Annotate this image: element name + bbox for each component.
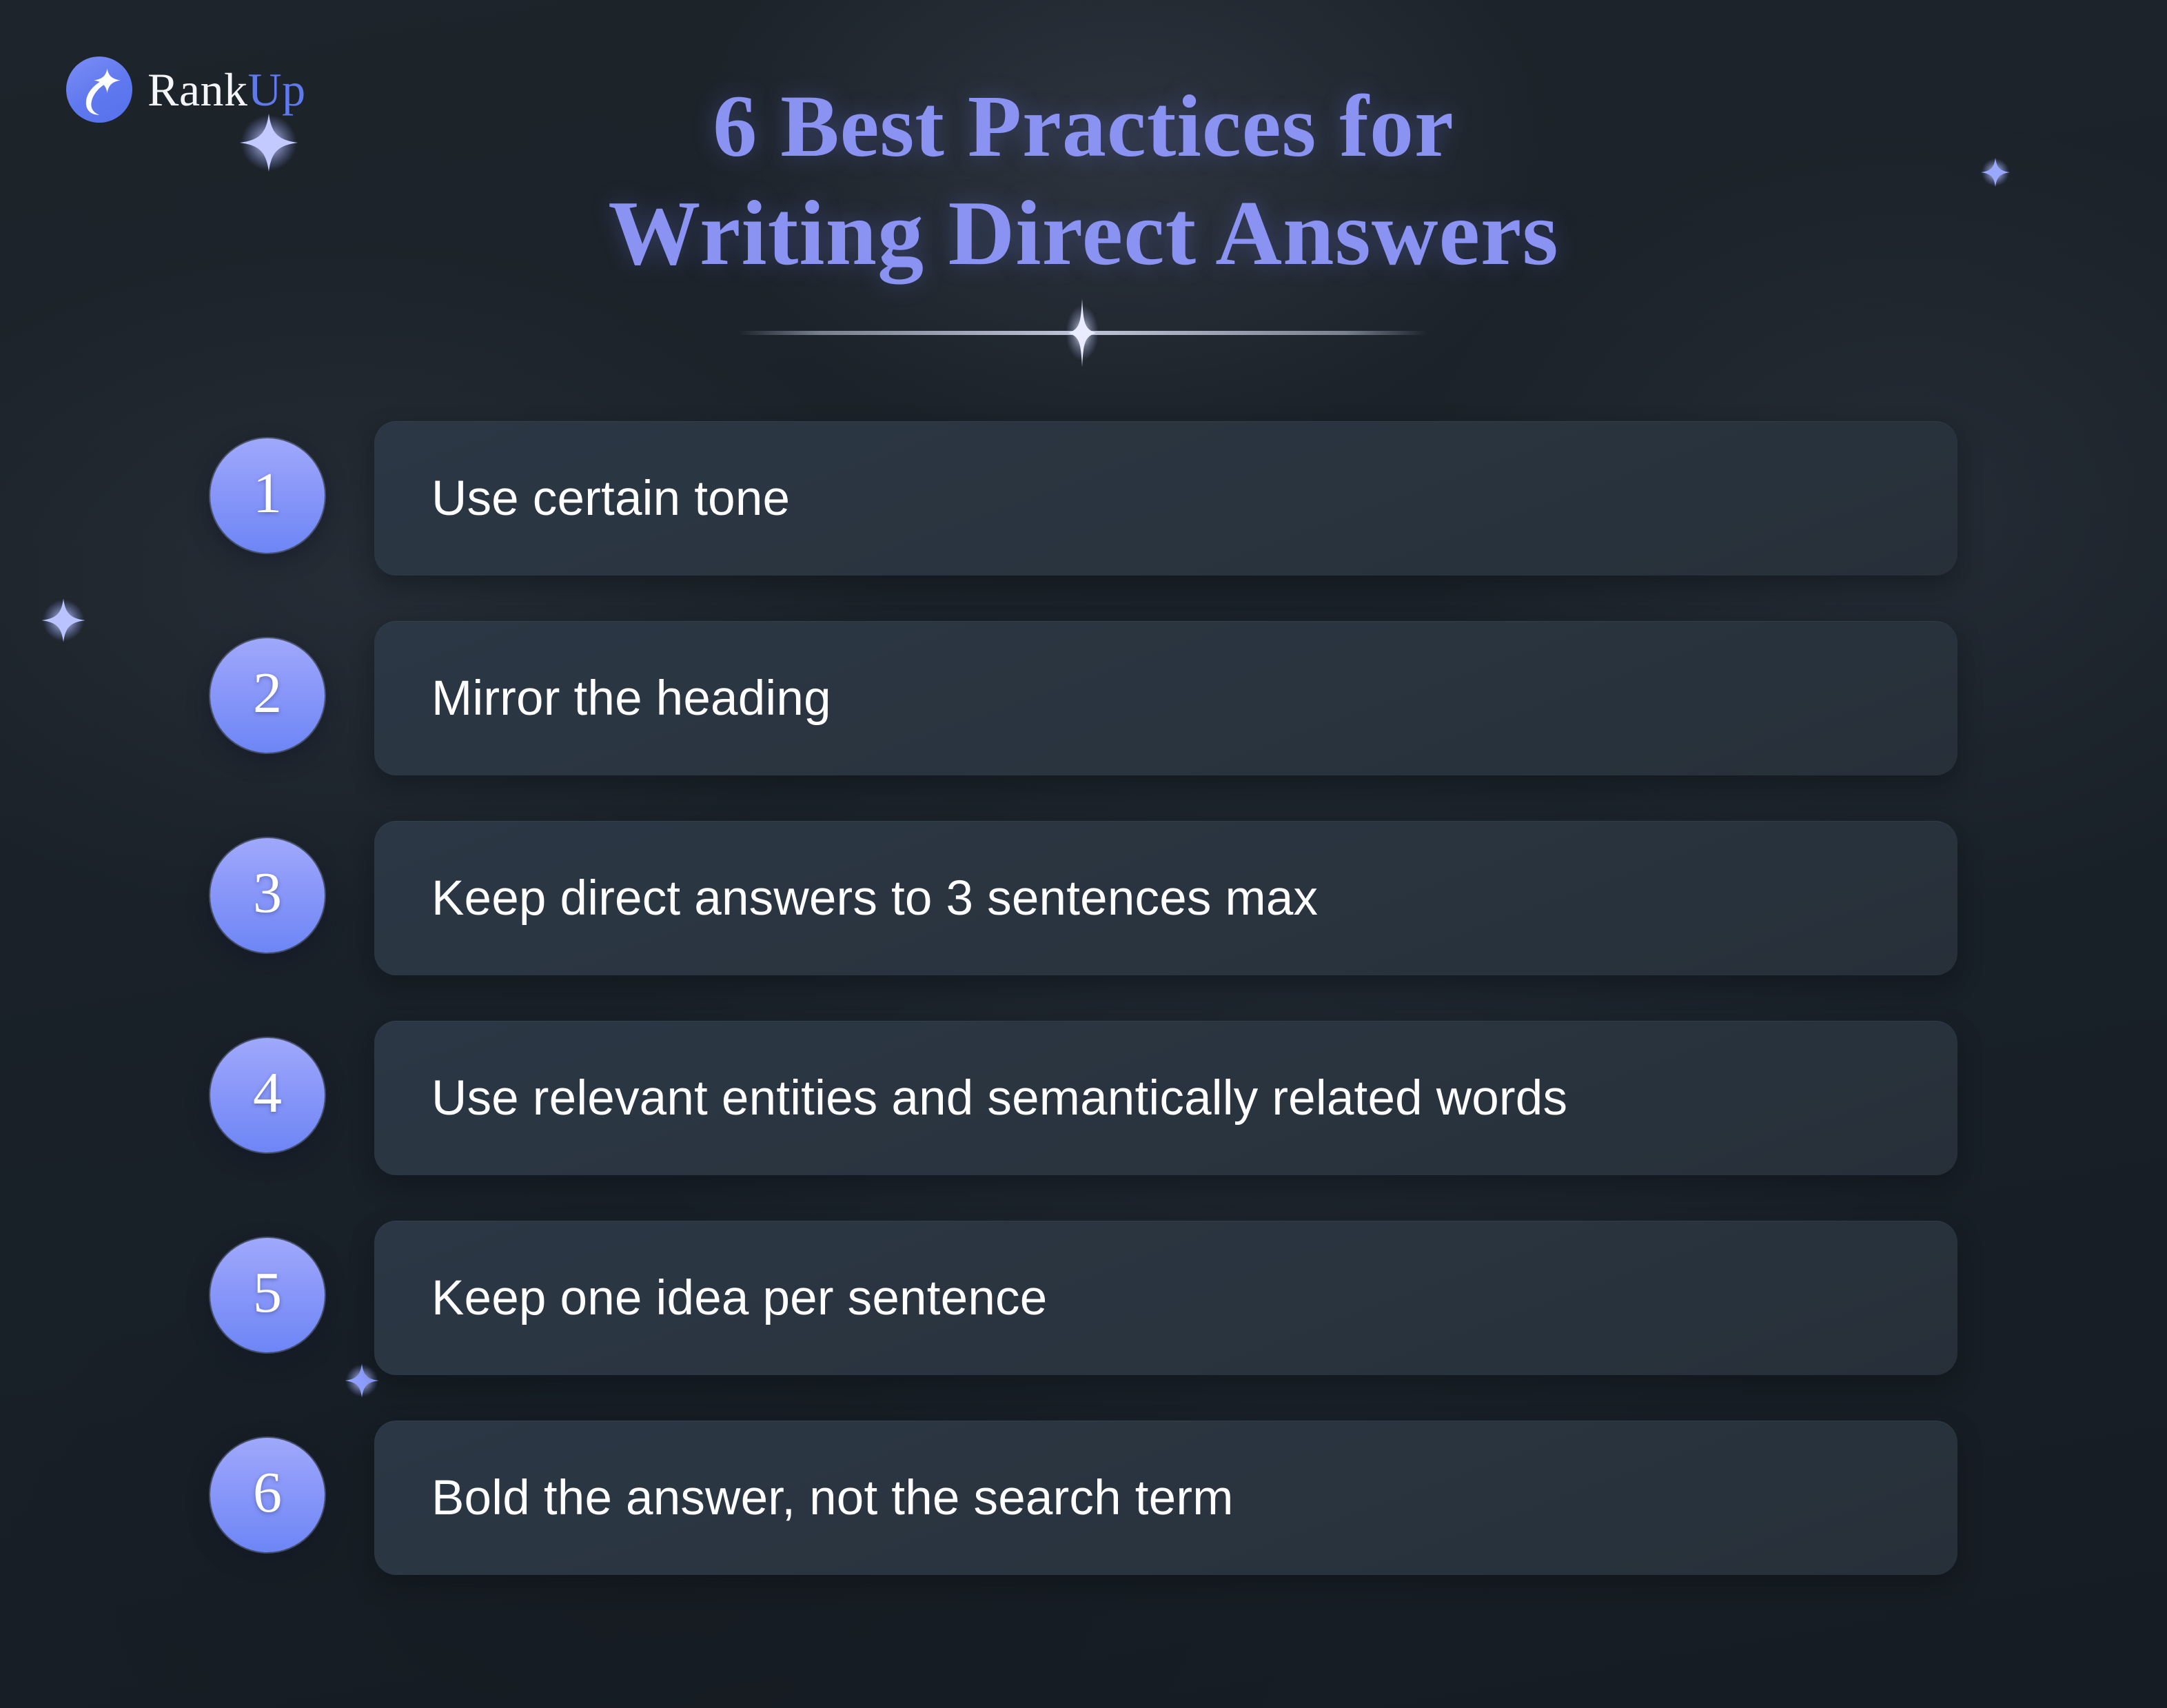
list-item-card[interactable]: Bold the answer, not the search term xyxy=(374,1421,1957,1575)
list-item[interactable]: 6 Bold the answer, not the search term xyxy=(0,1414,2167,1614)
list-item[interactable]: 4 Use relevant entities and semantically… xyxy=(0,1014,2167,1214)
list-item-number-badge: 1 xyxy=(210,438,325,553)
list-item-card[interactable]: Mirror the heading xyxy=(374,621,1957,775)
list-item-number-badge: 2 xyxy=(210,638,325,753)
list-item-card[interactable]: Keep direct answers to 3 sentences max xyxy=(374,821,1957,975)
list-item-number: 2 xyxy=(253,664,282,726)
list-item-label: Mirror the heading xyxy=(374,671,831,726)
list-item-card[interactable]: Use certain tone xyxy=(374,421,1957,576)
page-title-line-2: Writing Direct Answers xyxy=(0,179,2167,287)
list-item-label: Use certain tone xyxy=(374,471,790,527)
practices-list: 1 Use certain tone 2 Mirror the heading … xyxy=(0,414,2167,1614)
list-item-number: 6 xyxy=(253,1464,282,1526)
list-item-number-badge: 4 xyxy=(210,1038,325,1152)
list-item[interactable]: 3 Keep direct answers to 3 sentences max xyxy=(0,814,2167,1014)
list-item-label: Bold the answer, not the search term xyxy=(374,1470,1234,1526)
page-title: 6 Best Practices for Writing Direct Answ… xyxy=(0,74,2167,287)
list-item-number: 1 xyxy=(253,465,282,527)
list-item-number-badge: 3 xyxy=(210,838,325,953)
list-item[interactable]: 5 Keep one idea per sentence xyxy=(0,1214,2167,1414)
title-divider xyxy=(737,331,1427,335)
list-item-number: 4 xyxy=(253,1064,282,1126)
list-item-card[interactable]: Use relevant entities and semantically r… xyxy=(374,1021,1957,1175)
list-item[interactable]: 2 Mirror the heading xyxy=(0,614,2167,814)
page-title-line-1: 6 Best Practices for xyxy=(0,74,2167,179)
list-item-label: Keep direct answers to 3 sentences max xyxy=(374,871,1318,926)
sparkle-star-icon xyxy=(1062,295,1102,371)
list-item-label: Use relevant entities and semantically r… xyxy=(374,1070,1567,1126)
list-item-number-badge: 6 xyxy=(210,1438,325,1552)
list-item[interactable]: 1 Use certain tone xyxy=(0,414,2167,614)
infographic-canvas: RankUp 6 Best Practices for Writing Dire… xyxy=(0,0,2167,1708)
list-item-number: 3 xyxy=(253,864,282,926)
list-item-card[interactable]: Keep one idea per sentence xyxy=(374,1221,1957,1375)
list-item-number: 5 xyxy=(253,1264,282,1326)
list-item-number-badge: 5 xyxy=(210,1238,325,1352)
list-item-label: Keep one idea per sentence xyxy=(374,1270,1047,1326)
